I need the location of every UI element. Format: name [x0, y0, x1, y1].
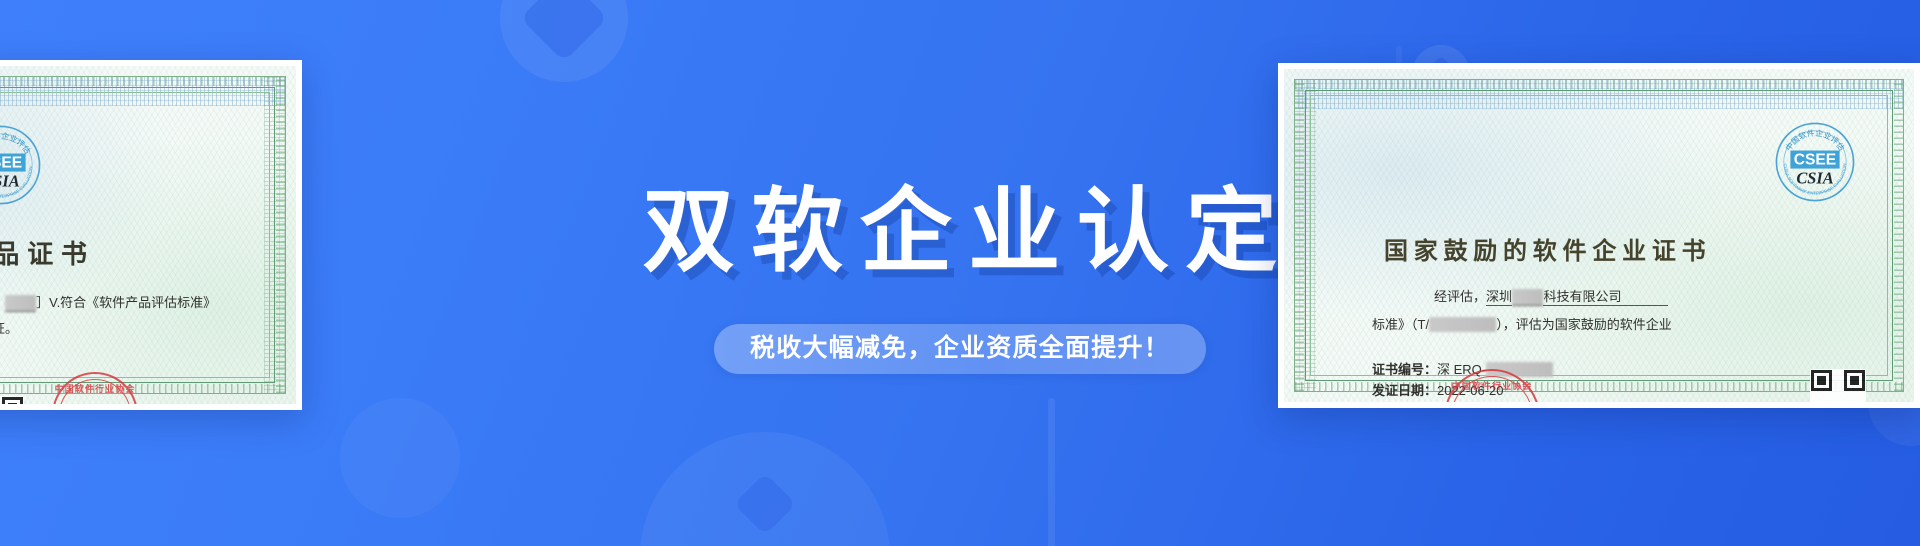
certificate-right-paper: 中国软件企业评估 CHINA SOFTWARE ENTERPRISE EVALU… — [1284, 69, 1914, 402]
certificate-right-title: 国家鼓励的软件企业证书 — [1384, 231, 1711, 266]
qr-code — [1810, 369, 1866, 402]
certificate-right-body: 中国软件企业评估 CHINA SOFTWARE ENTERPRISE EVALU… — [1284, 69, 1914, 402]
standard-prefix: 标准》（T/ — [1372, 317, 1429, 332]
certificate-right: 中国软件企业评估 CHINA SOFTWARE ENTERPRISE EVALU… — [1278, 63, 1920, 408]
subtitle-badge: 税收大幅减免，企业资质全面提升！ — [714, 324, 1206, 374]
assess-company-redact: ■■■■ — [1512, 289, 1543, 306]
logo-band-text: CSEE — [1794, 151, 1836, 168]
certificate-right-assess-line: 经评估，深圳■■■■科技有限公司 — [1434, 286, 1668, 306]
certificate-right-validity-field: 有 效 期：一年 — [1372, 401, 1457, 402]
assess-company-b: 科技有限公司 — [1543, 289, 1621, 306]
assess-company-a: 深圳 — [1486, 289, 1512, 306]
cert-no-label: 证书编号： — [1372, 362, 1437, 377]
assess-prefix: 经评估， — [1434, 289, 1486, 304]
promo-banner: 中国软件企业评估 CHINA SOFTWARE ENTERPRISE EVALU… — [0, 0, 1920, 546]
qr-finder-top-left — [1811, 370, 1832, 391]
seal-arc-top-text: 中国软件行业协会 — [1446, 379, 1538, 392]
standard-suffix: ），评估为国家鼓励的软件企业 — [1496, 317, 1672, 332]
page-title: 双软企业认定 — [626, 186, 1294, 278]
logo-mark-text: CSIA — [1796, 168, 1833, 187]
qr-finder-top-right — [1844, 370, 1865, 391]
issue-date-label: 发证日期： — [1372, 383, 1437, 398]
certificate-right-cert-no-field: 证书编号：深 ERQ-■■■■-■■■■ — [1372, 359, 1553, 378]
certificate-right-standard-line: 标准》（T/■■■■-■■■■），评估为国家鼓励的软件企业 — [1372, 314, 1672, 333]
standard-redact: ■■■■-■■■■ — [1429, 317, 1496, 332]
csee-csia-logo-icon: 中国软件企业评估 CHINA SOFTWARE ENTERPRISE EVALU… — [1774, 121, 1856, 203]
